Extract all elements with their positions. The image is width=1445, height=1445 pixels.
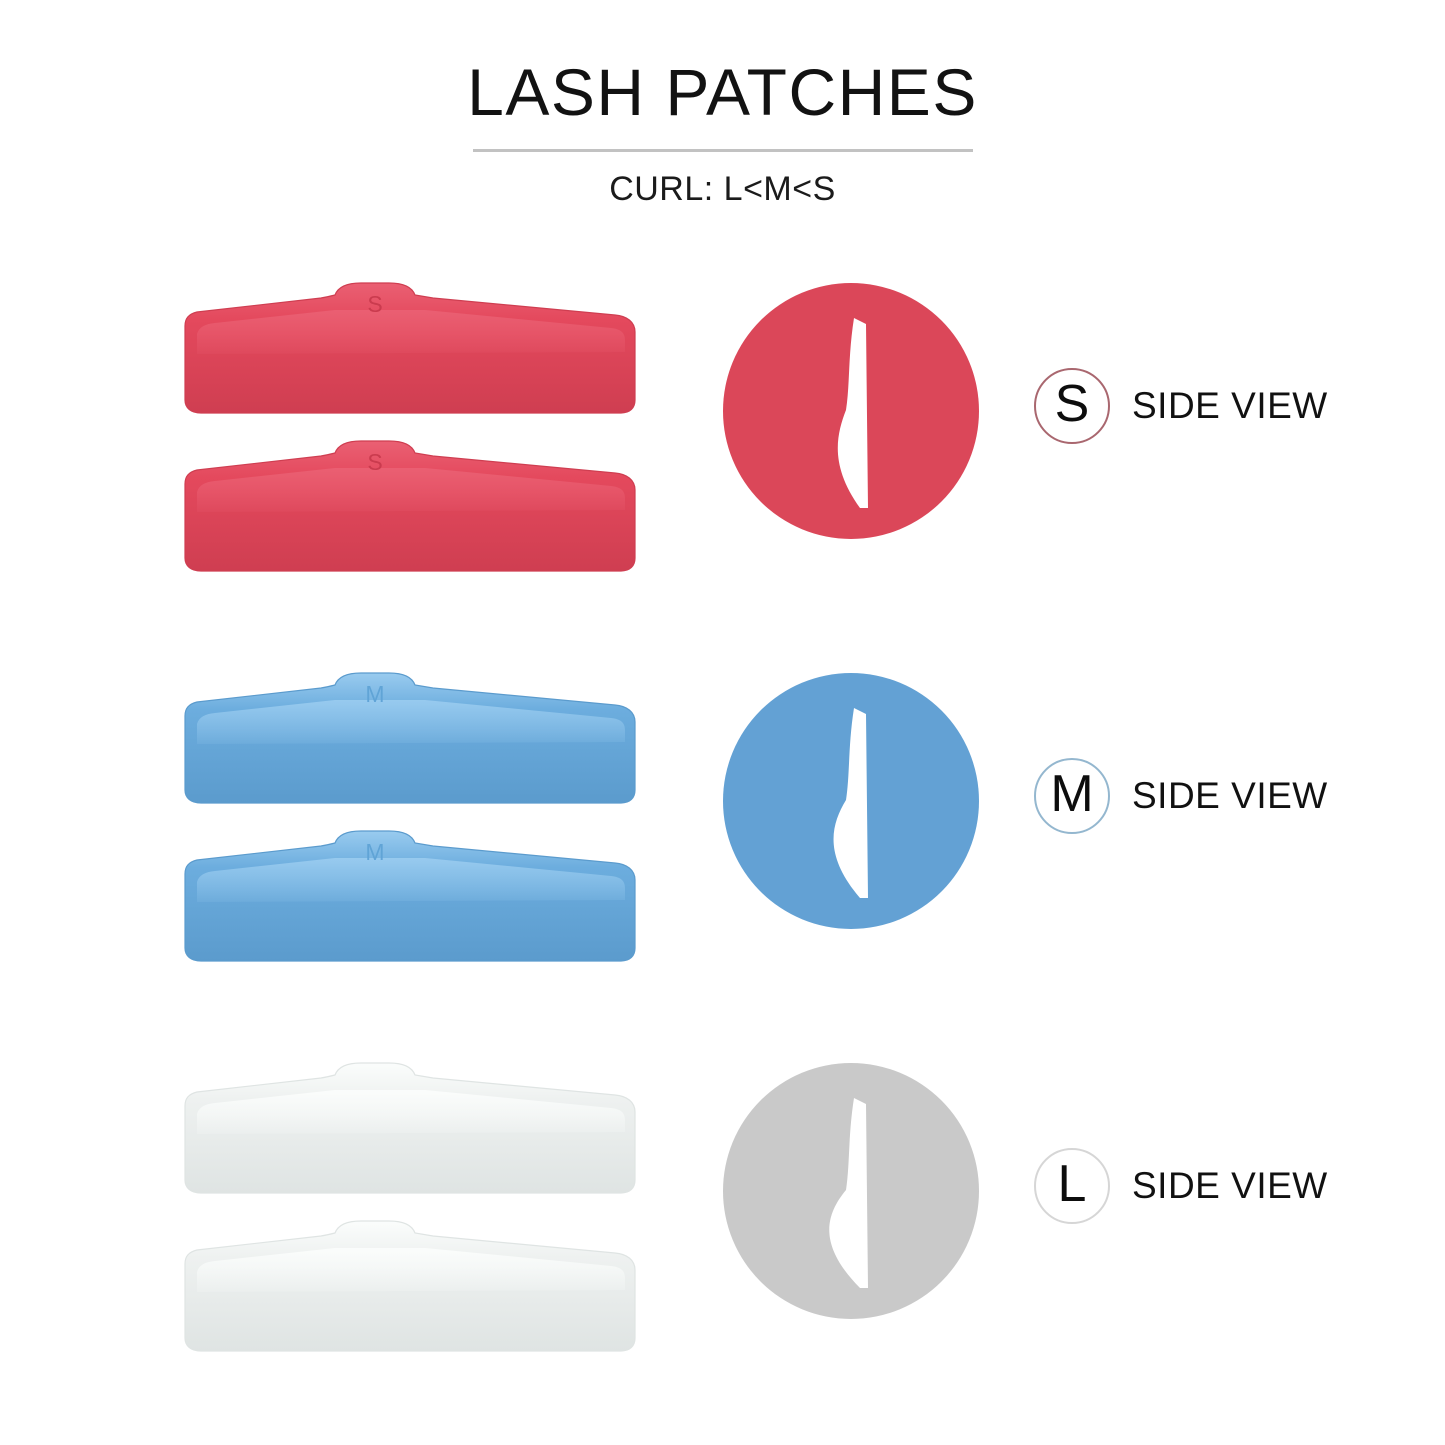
side-view-label: SIDE VIEW xyxy=(1132,1165,1328,1207)
lash-pad-l-2 xyxy=(175,1220,647,1355)
page-title: LASH PATCHES xyxy=(0,58,1445,127)
size-row-l: LSIDE VIEW xyxy=(0,1020,1445,1410)
size-badge-letter: L xyxy=(1058,1158,1087,1210)
size-badge-l: L xyxy=(1034,1148,1110,1224)
header: LASH PATCHES CURL: L<M<S xyxy=(0,58,1445,209)
legend-s: SSIDE VIEW xyxy=(1034,368,1328,444)
side-view-label: SIDE VIEW xyxy=(1132,385,1328,427)
size-row-s: SSSSIDE VIEW xyxy=(0,240,1445,630)
lash-pad-m-2: M xyxy=(175,830,647,965)
infographic-page: LASH PATCHES CURL: L<M<S SSSSIDE VIEWMMM… xyxy=(0,0,1445,1445)
svg-text:M: M xyxy=(365,839,384,865)
size-rows: SSSSIDE VIEWMMMSIDE VIEWLSIDE VIEW xyxy=(0,240,1445,1410)
size-badge-m: M xyxy=(1034,758,1110,834)
lash-pad-s-1: S xyxy=(175,282,647,417)
lash-pad-m-1: M xyxy=(175,672,647,807)
size-badge-letter: S xyxy=(1055,378,1090,430)
size-badge-letter: M xyxy=(1050,768,1093,820)
lash-pad-l-1 xyxy=(175,1062,647,1197)
size-badge-s: S xyxy=(1034,368,1110,444)
pad-pair-s: SS xyxy=(175,240,655,630)
side-view-label: SIDE VIEW xyxy=(1132,775,1328,817)
pad-pair-l xyxy=(175,1020,655,1410)
svg-text:M: M xyxy=(365,681,384,707)
legend-m: MSIDE VIEW xyxy=(1034,758,1328,834)
svg-text:S: S xyxy=(367,291,382,317)
pad-pair-m: MM xyxy=(175,630,655,1020)
size-row-m: MMMSIDE VIEW xyxy=(0,630,1445,1020)
legend-l: LSIDE VIEW xyxy=(1034,1148,1328,1224)
title-divider xyxy=(473,149,973,152)
side-view-disc-l xyxy=(718,1058,984,1324)
svg-text:S: S xyxy=(367,449,382,475)
side-view-disc-s xyxy=(718,278,984,544)
side-view-disc-m xyxy=(718,668,984,934)
lash-pad-s-2: S xyxy=(175,440,647,575)
curl-subtitle: CURL: L<M<S xyxy=(0,170,1445,209)
